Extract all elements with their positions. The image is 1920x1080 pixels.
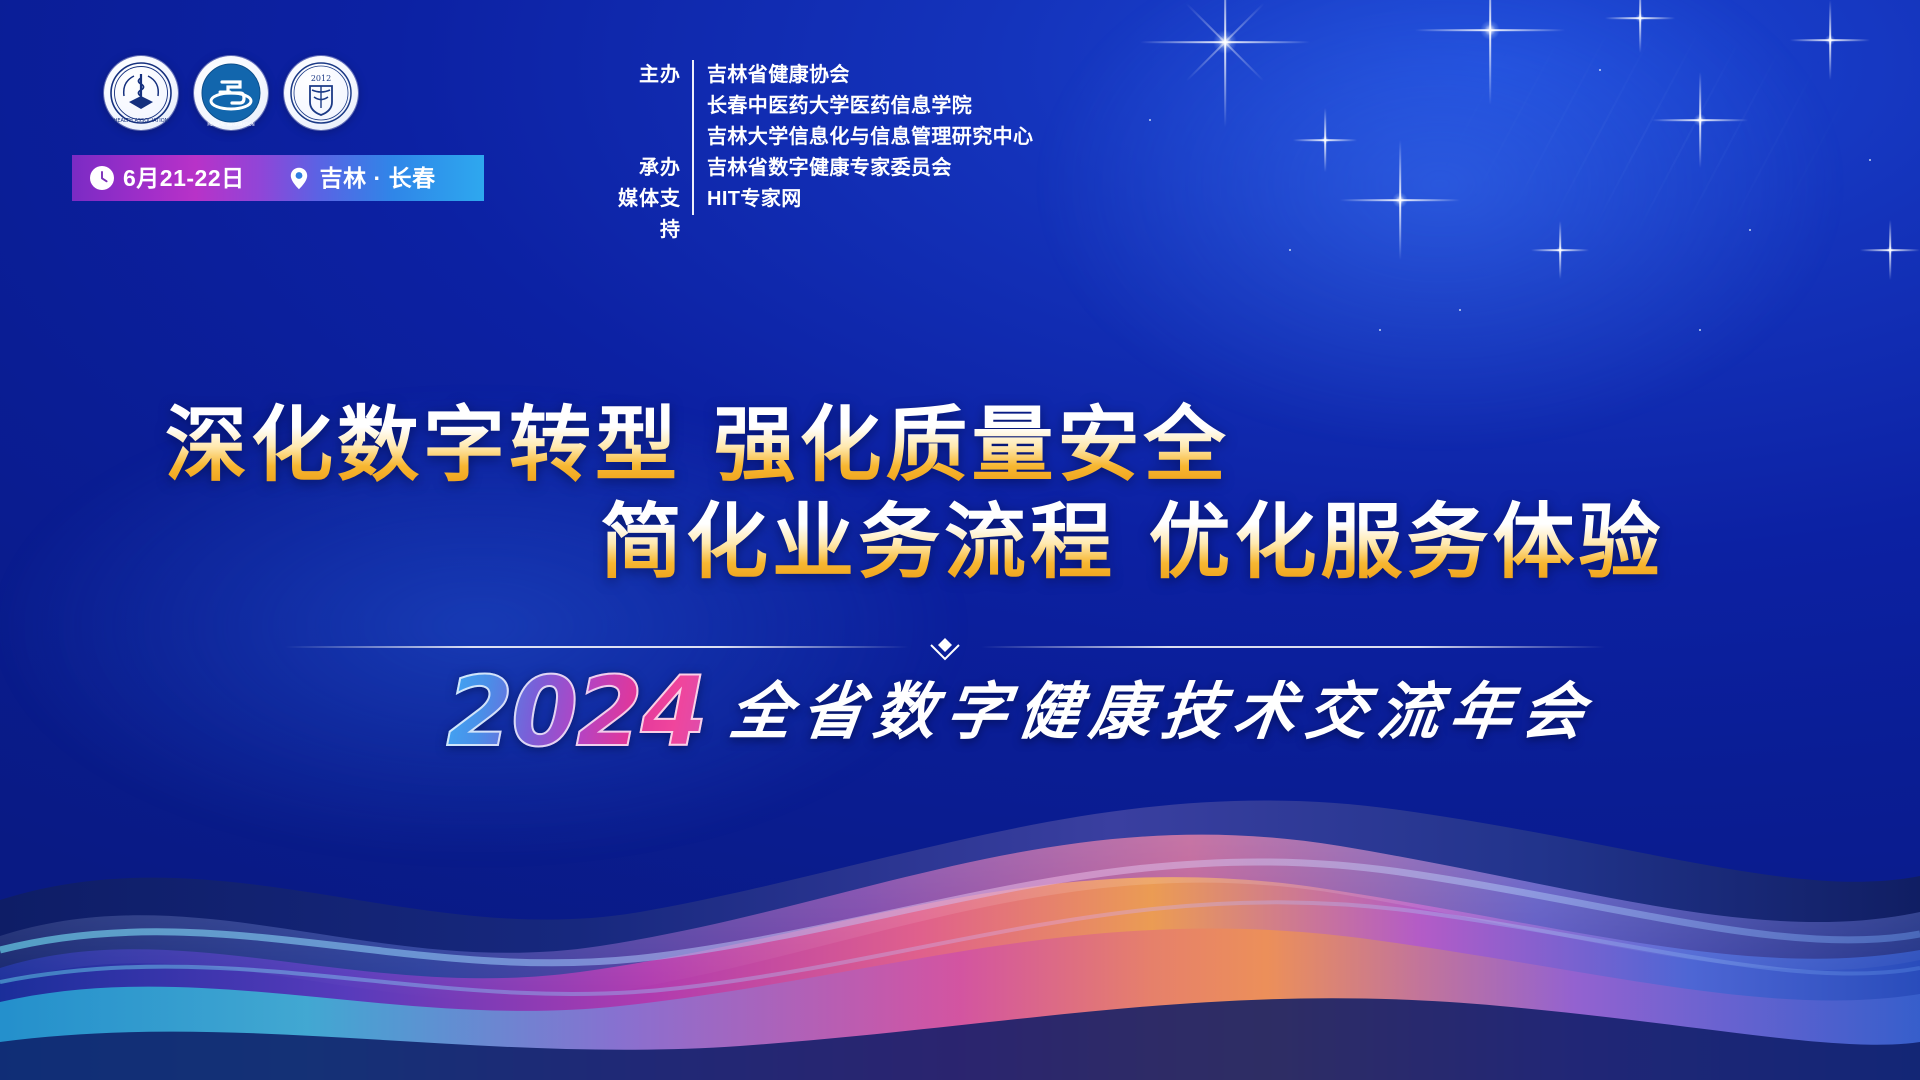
organizer-row: 主办 吉林省健康协会 <box>600 60 1033 91</box>
changchun-tcm-university-logo: MEDICAL INFORMATION <box>194 56 268 130</box>
event-date-text: 6月21-22日 <box>123 167 245 190</box>
divider-line-right <box>981 646 1605 648</box>
organizer-value: 吉林省数字健康专家委员会 <box>694 153 952 184</box>
jilin-university-research-center-logo: 2012 <box>284 56 358 130</box>
event-date: 6月21-22日 <box>90 166 245 190</box>
event-location: 吉林 · 长春 <box>287 166 436 190</box>
organizer-row: 长春中医药大学医药信息学院 <box>600 91 1033 122</box>
decorative-wave-ribbons <box>0 650 1920 1080</box>
organizer-label: 承办 <box>600 153 692 184</box>
event-location-text: 吉林 · 长春 <box>320 167 436 190</box>
svg-text:HEALTH ASSOCIATION: HEALTH ASSOCIATION <box>114 118 169 124</box>
organizer-logos: HEALTH ASSOCIATION MEDICAL INFORMATION 2… <box>104 56 358 130</box>
organizer-value: 吉林省健康协会 <box>694 60 850 91</box>
organizer-block: 主办 吉林省健康协会 长春中医药大学医药信息学院 吉林大学信息化与信息管理研究中… <box>600 60 1033 215</box>
conference-banner: HEALTH ASSOCIATION MEDICAL INFORMATION 2… <box>0 0 1920 1080</box>
organizer-row: 承办 吉林省数字健康专家委员会 <box>600 153 1033 184</box>
svg-text:2012: 2012 <box>311 74 331 83</box>
jilin-health-association-logo: HEALTH ASSOCIATION <box>104 56 178 130</box>
svg-text:MEDICAL INFORMATION: MEDICAL INFORMATION <box>207 122 254 127</box>
organizer-value: 长春中医药大学医药信息学院 <box>694 91 972 122</box>
organizer-label: 主办 <box>600 60 692 91</box>
date-location-bar: 6月21-22日 吉林 · 长春 <box>72 155 484 201</box>
divider-line-left <box>285 646 909 648</box>
organizer-value: 吉林大学信息化与信息管理研究中心 <box>694 122 1033 153</box>
clock-icon <box>90 166 114 190</box>
headline-line-2: 简化业务流程 优化服务体验 <box>600 495 1920 592</box>
headline-line-1: 深化数字转型 强化质量安全 <box>165 398 1920 495</box>
headline: 深化数字转型 强化质量安全 简化业务流程 优化服务体验 <box>0 398 1920 592</box>
organizer-label: 媒体支持 <box>600 184 692 246</box>
organizer-row: 吉林大学信息化与信息管理研究中心 <box>600 122 1033 153</box>
location-pin-icon <box>287 166 311 190</box>
organizer-value: HIT专家网 <box>694 184 802 215</box>
organizer-row: 媒体支持 HIT专家网 <box>600 184 1033 215</box>
